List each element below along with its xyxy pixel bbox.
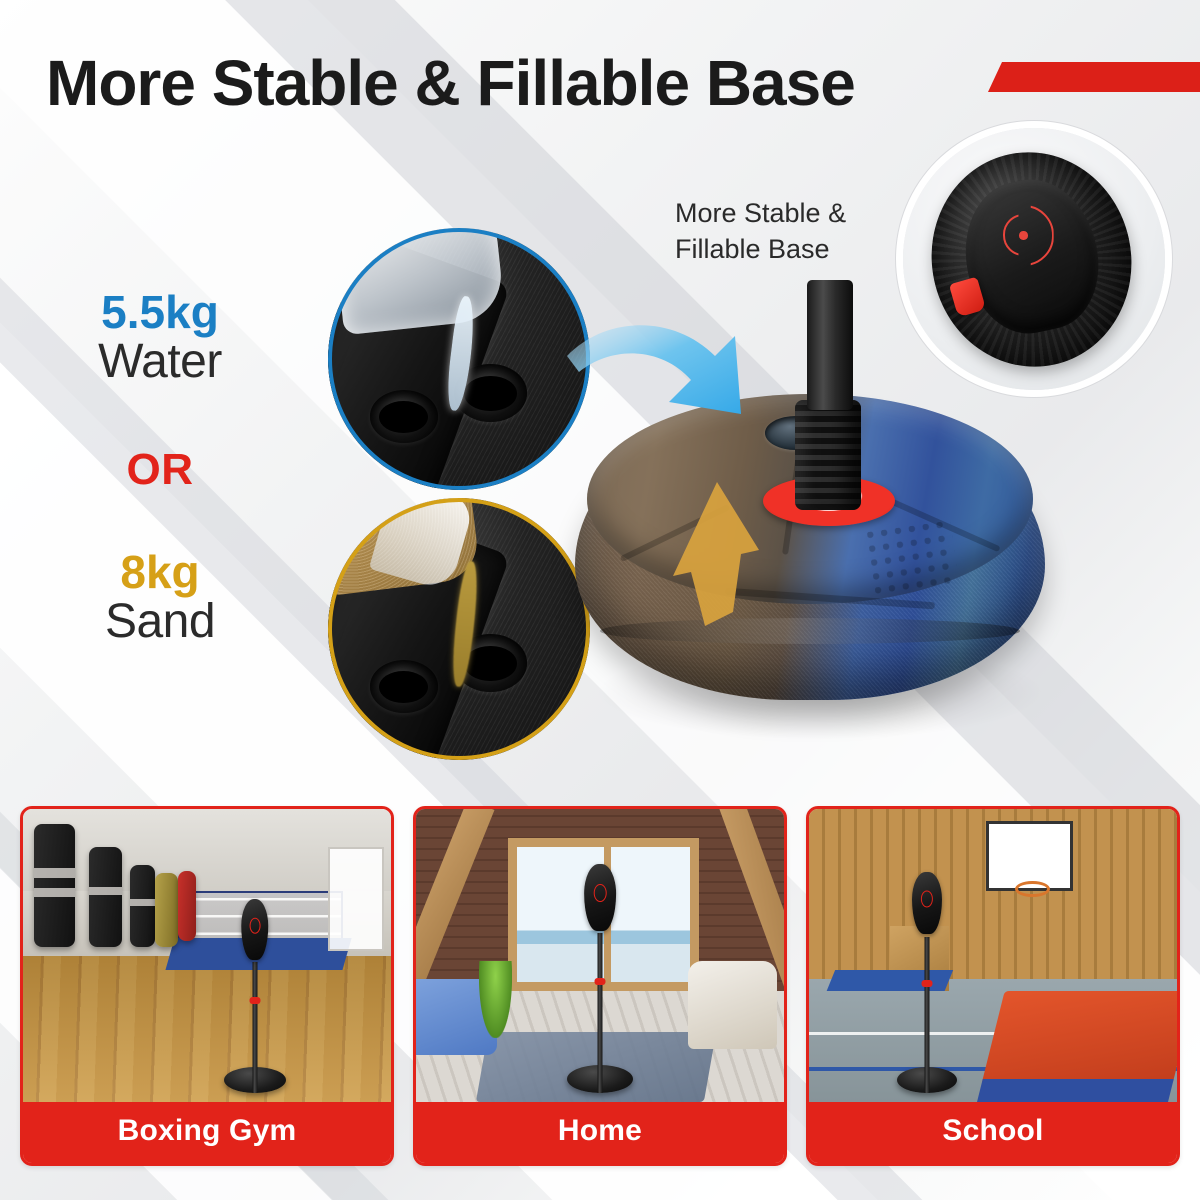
- spec-divider-or: OR: [0, 445, 320, 495]
- heavy-bag: [178, 871, 196, 941]
- punching-bag-stand: [883, 841, 971, 1093]
- basketball-backboard: [986, 821, 1073, 891]
- product-base-illustration: [575, 380, 1065, 770]
- fill-cap-photo: [903, 128, 1165, 390]
- rocking-chair: [688, 961, 776, 1049]
- scene-photo-school: [809, 809, 1177, 1102]
- water-inset-ring: [328, 228, 590, 490]
- scene-label-boxing-gym: Boxing Gym: [23, 1102, 391, 1163]
- scene-card-boxing-gym[interactable]: Boxing Gym: [20, 806, 394, 1166]
- heavy-bag: [34, 824, 74, 947]
- heavy-bag: [89, 847, 122, 947]
- gym-window: [328, 847, 384, 951]
- spec-water-label: Water: [0, 336, 320, 389]
- pole-shaft: [807, 280, 853, 410]
- gold-up-arrow-icon: [671, 476, 761, 626]
- pole-spring: [795, 400, 861, 510]
- heavy-bag: [130, 865, 156, 947]
- gym-wood-floor: [23, 956, 391, 1103]
- scene-card-home[interactable]: Home: [413, 806, 787, 1166]
- scene-photo-home: [416, 809, 784, 1102]
- blue-curved-arrow-icon: [565, 310, 780, 435]
- page-title: More Stable & Fillable Base: [46, 50, 976, 117]
- spec-sand-amount: 8kg: [0, 548, 320, 596]
- landing-mat: [981, 991, 1177, 1085]
- base-rib: [600, 618, 1020, 644]
- base-dimple-texture: [867, 520, 959, 597]
- fill-cap-icon: [903, 128, 1165, 390]
- header-accent-bar: [988, 62, 1200, 92]
- use-case-gallery: Boxing Gym Home: [20, 806, 1180, 1166]
- scene-card-school[interactable]: School: [806, 806, 1180, 1166]
- callout-text: More Stable & Fillable Base: [675, 196, 890, 267]
- scene-label-school: School: [809, 1102, 1177, 1163]
- scene-photo-boxing-gym: [23, 809, 391, 1102]
- spec-water: 5.5kg Water: [0, 288, 320, 389]
- callout-line-2: Fillable Base: [675, 232, 890, 268]
- scene-label-home: Home: [416, 1102, 784, 1163]
- potted-plant: [479, 961, 512, 1037]
- punching-bag-stand: [214, 859, 295, 1093]
- punching-bag-stand: [556, 835, 644, 1093]
- sand-inset-ring: [328, 498, 590, 760]
- heavy-bag: [155, 873, 177, 946]
- spec-sand: 8kg Sand: [0, 548, 320, 649]
- spec-water-amount: 5.5kg: [0, 288, 320, 336]
- brand-target-icon: [1003, 214, 1045, 256]
- spec-sand-label: Sand: [0, 596, 320, 649]
- sand-pour-icon: [328, 498, 590, 760]
- product-feature-banner: More Stable & Fillable Base 5.5kg Water …: [0, 0, 1200, 1200]
- water-pour-icon: [328, 228, 590, 490]
- callout-line-1: More Stable &: [675, 196, 890, 232]
